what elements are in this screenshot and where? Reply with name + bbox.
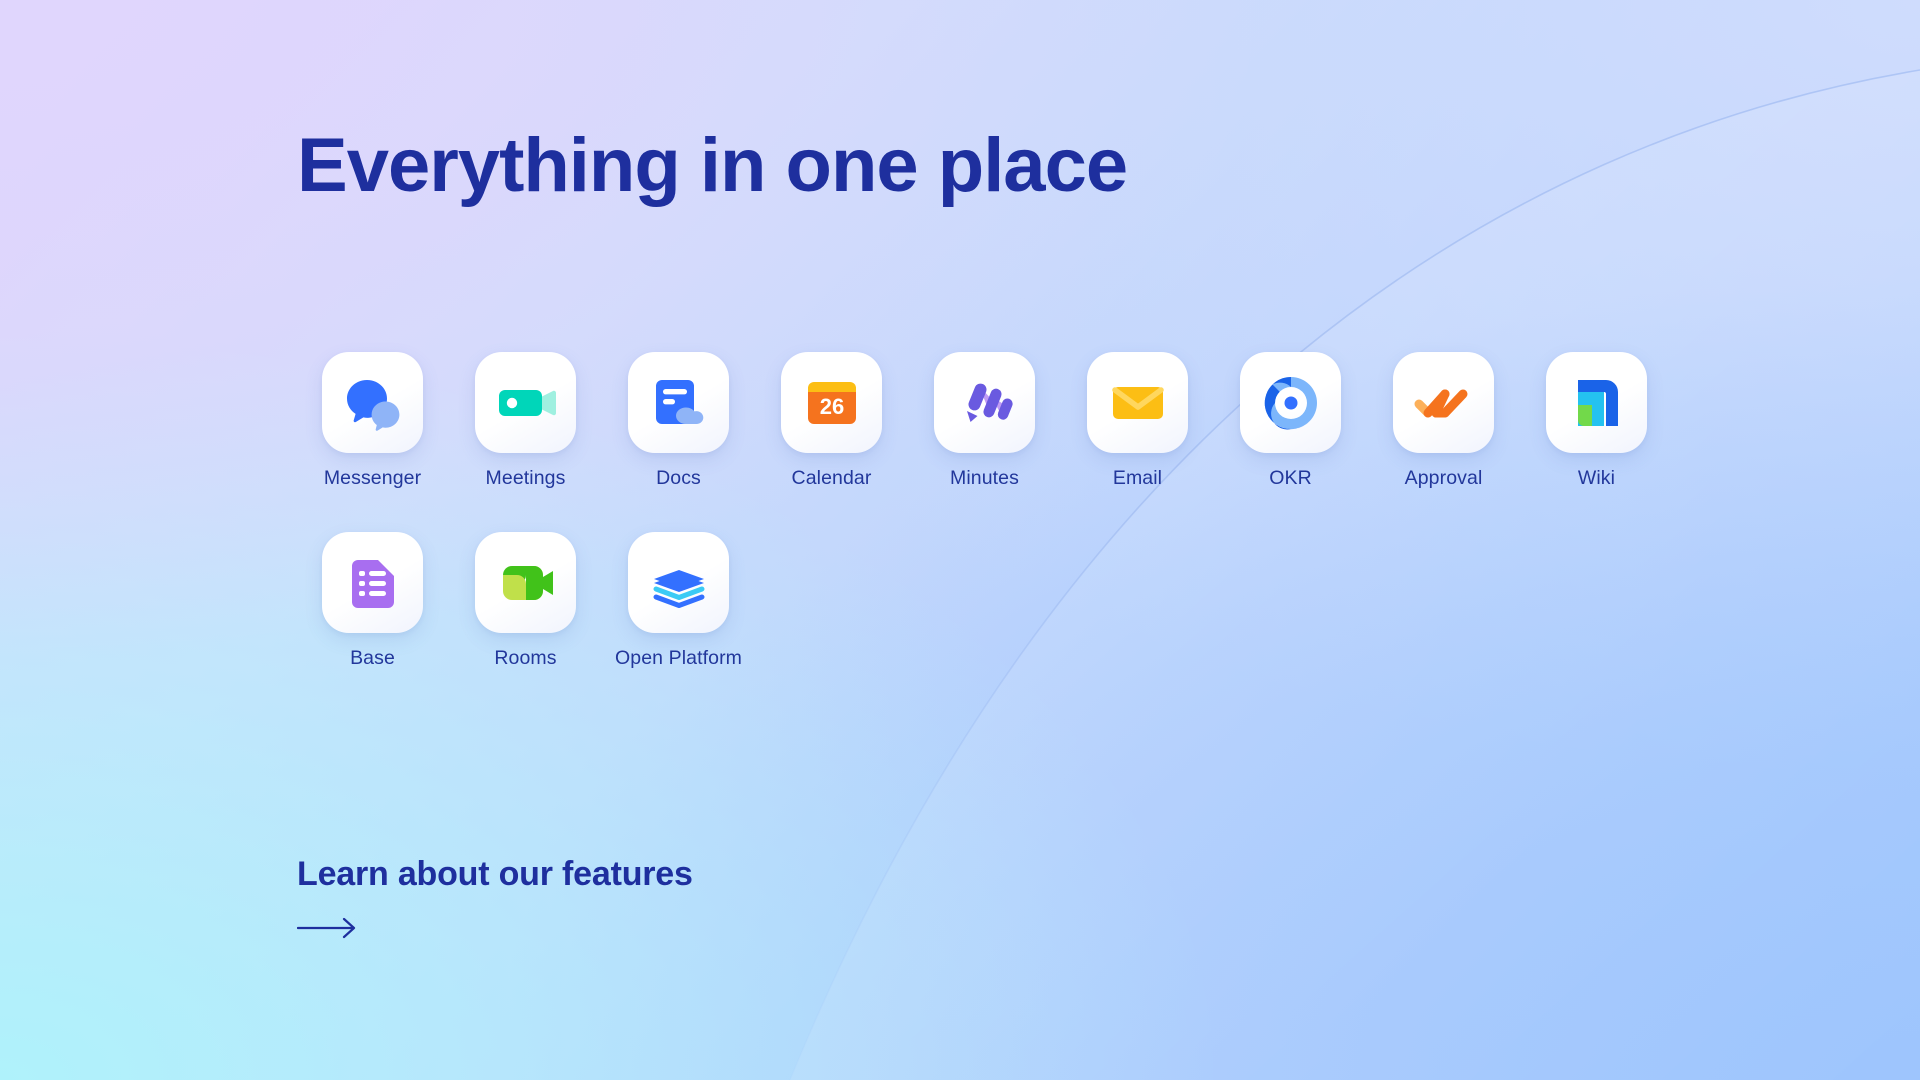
app-label: Minutes xyxy=(950,467,1019,490)
minutes-tile[interactable] xyxy=(934,352,1035,453)
meetings-tile[interactable] xyxy=(475,352,576,453)
document-cloud-icon xyxy=(648,372,710,434)
app-label: Wiki xyxy=(1578,467,1615,490)
pen-waveform-icon xyxy=(954,372,1016,434)
app-item-open-platform[interactable]: Open Platform xyxy=(602,532,755,670)
app-item-wiki[interactable]: Wiki xyxy=(1520,352,1673,490)
app-item-okr[interactable]: OKR xyxy=(1214,352,1367,490)
app-item-rooms[interactable]: Rooms xyxy=(449,532,602,670)
calendar-26-icon: 26 xyxy=(801,372,863,434)
app-item-calendar[interactable]: 26 Calendar xyxy=(755,352,908,490)
page-stage: Everything in one place Messenger xyxy=(0,0,1920,1080)
calendar-tile[interactable]: 26 xyxy=(781,352,882,453)
app-label: Messenger xyxy=(324,467,421,490)
learn-features-block[interactable]: Learn about our features xyxy=(297,855,693,945)
app-label: Rooms xyxy=(494,647,556,670)
app-icon-grid: Messenger Meetings xyxy=(296,352,1673,670)
app-label: Meetings xyxy=(486,467,566,490)
envelope-icon xyxy=(1107,372,1169,434)
open-platform-tile[interactable] xyxy=(628,532,729,633)
app-label: Email xyxy=(1113,467,1162,490)
double-check-icon xyxy=(1413,372,1475,434)
app-item-base[interactable]: Base xyxy=(296,532,449,670)
stacked-layers-icon xyxy=(648,552,710,614)
app-grid-row: Messenger Meetings xyxy=(296,352,1673,490)
app-label: Calendar xyxy=(792,467,872,490)
app-label: Approval xyxy=(1405,467,1483,490)
email-tile[interactable] xyxy=(1087,352,1188,453)
app-label: Docs xyxy=(656,467,701,490)
app-item-minutes[interactable]: Minutes xyxy=(908,352,1061,490)
messenger-chat-bubble-icon xyxy=(342,372,404,434)
rooms-tile[interactable] xyxy=(475,532,576,633)
app-label: Base xyxy=(350,647,395,670)
learn-features-title: Learn about our features xyxy=(297,855,693,894)
video-camera-icon xyxy=(495,372,557,434)
okr-tile[interactable] xyxy=(1240,352,1341,453)
app-item-meetings[interactable]: Meetings xyxy=(449,352,602,490)
arrow-right-icon xyxy=(297,916,359,940)
app-item-messenger[interactable]: Messenger xyxy=(296,352,449,490)
rooms-camera-icon xyxy=(495,552,557,614)
app-item-approval[interactable]: Approval xyxy=(1367,352,1520,490)
wiki-tile[interactable] xyxy=(1546,352,1647,453)
messenger-tile[interactable] xyxy=(322,352,423,453)
calendar-date-number: 26 xyxy=(819,394,843,419)
app-grid-row: Base Rooms xyxy=(296,532,1673,670)
base-tile[interactable] xyxy=(322,532,423,633)
target-ring-icon xyxy=(1260,372,1322,434)
list-table-icon xyxy=(342,552,404,614)
page-title: Everything in one place xyxy=(297,128,1127,204)
app-label: Open Platform xyxy=(615,647,742,670)
app-item-docs[interactable]: Docs xyxy=(602,352,755,490)
app-label: OKR xyxy=(1269,467,1312,490)
wiki-corner-blocks-icon xyxy=(1566,372,1628,434)
learn-features-arrow-button[interactable] xyxy=(297,916,359,945)
app-item-email[interactable]: Email xyxy=(1061,352,1214,490)
docs-tile[interactable] xyxy=(628,352,729,453)
approval-tile[interactable] xyxy=(1393,352,1494,453)
